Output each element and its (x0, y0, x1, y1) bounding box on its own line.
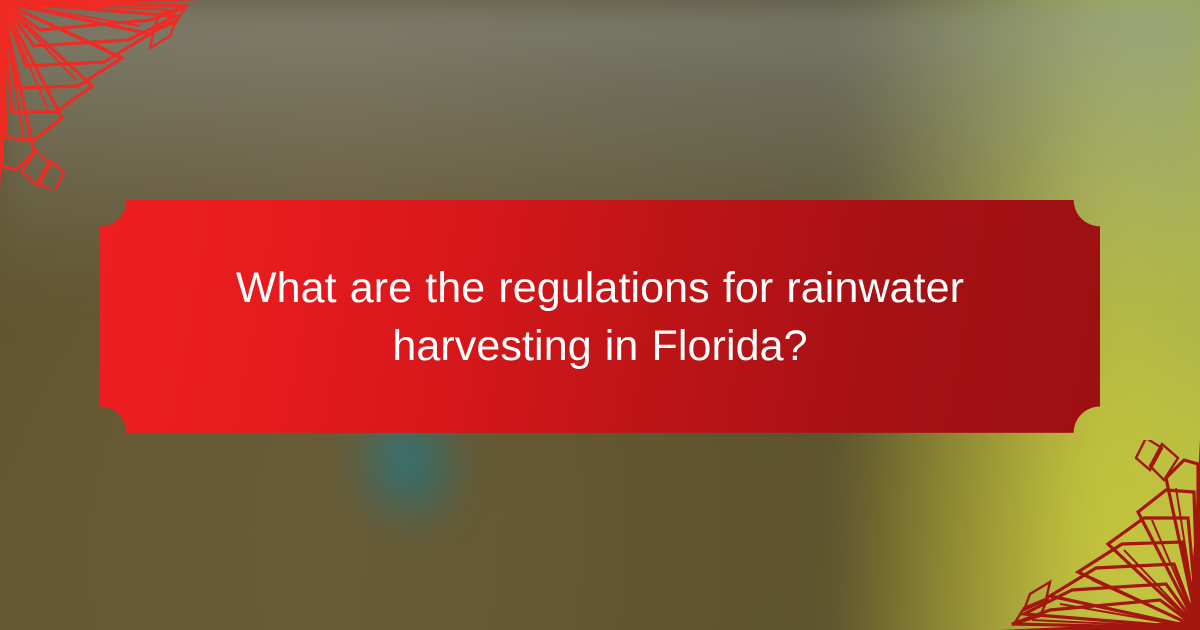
corner-ornament-top-left (0, 0, 200, 190)
ornament-fan-icon (1000, 440, 1200, 630)
ornament-fan-icon (0, 0, 200, 190)
page-title: What are the regulations for rainwater h… (220, 259, 980, 375)
headline-banner: What are the regulations for rainwater h… (100, 200, 1100, 433)
share-card: What are the regulations for rainwater h… (0, 0, 1200, 630)
corner-ornament-bottom-right (1000, 440, 1200, 630)
